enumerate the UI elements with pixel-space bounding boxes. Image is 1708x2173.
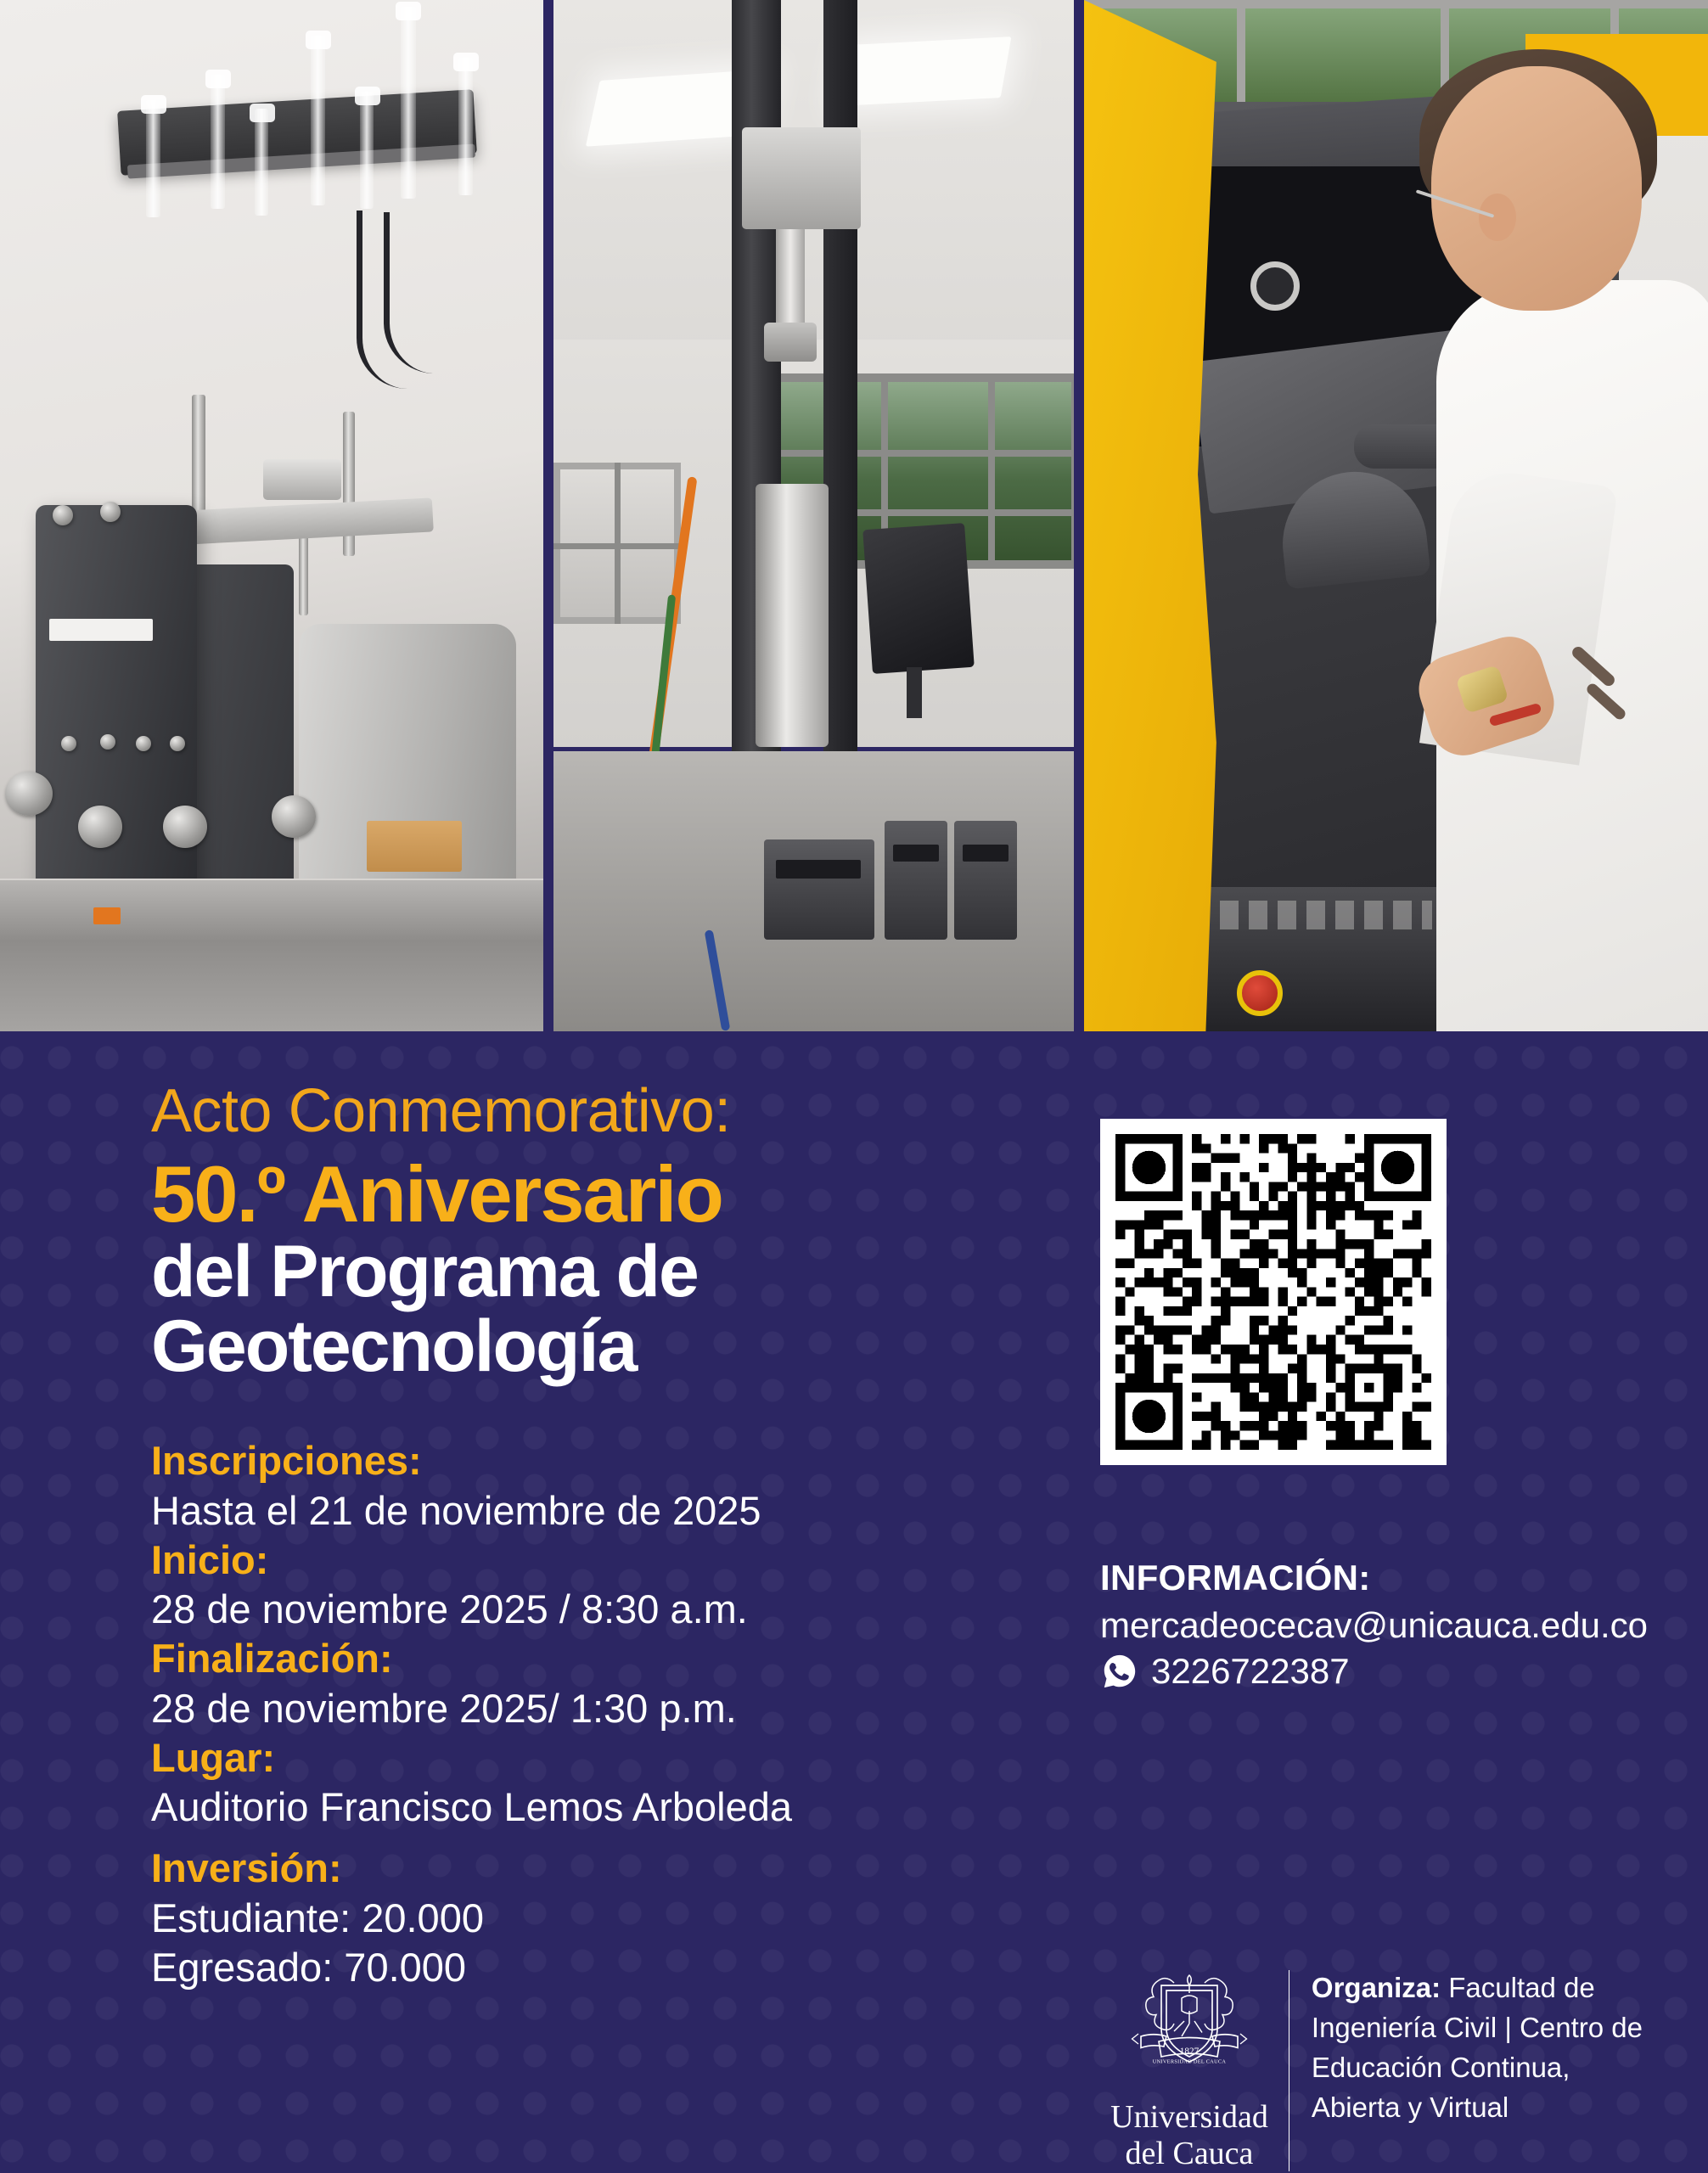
university-name: Universidad del Cauca (1110, 2099, 1268, 2171)
photo-four-point-bending-test-machine (0, 0, 543, 1031)
detail-item: Finalización: 28 de noviembre 2025/ 1:30… (151, 1634, 1009, 1733)
contact-phone-row[interactable]: 3226722387 (1100, 1651, 1627, 1692)
event-details-list: Inscripciones: Hasta el 21 de noviembre … (151, 1436, 1009, 1992)
detail-value: 28 de noviembre 2025 / 8:30 a.m. (151, 1585, 1009, 1634)
information-title: INFORMACIÓN: (1100, 1558, 1627, 1598)
detail-value: Hasta el 21 de noviembre de 2025 (151, 1486, 1009, 1536)
investment-graduate: Egresado: 70.000 (151, 1943, 1009, 1992)
investment-student: Estudiante: 20.000 (151, 1894, 1009, 1943)
contact-phone-number: 3226722387 (1151, 1651, 1350, 1692)
registration-qr-code[interactable] (1100, 1119, 1447, 1465)
footer-organizer-block: 1827 UNIVERSIDAD DEL CAUCA Universidad d… (1100, 1965, 1643, 2171)
headline-program-line2: Geotecnología (151, 1310, 1009, 1384)
footer-divider (1289, 1970, 1289, 2171)
investment-label: Inversión: (151, 1844, 1009, 1893)
qr-code-image (1115, 1134, 1431, 1450)
detail-item: Lugar: Auditorio Francisco Lemos Arboled… (151, 1733, 1009, 1833)
information-block: INFORMACIÓN: mercadeocecav@unicauca.edu.… (1100, 1558, 1627, 1692)
investment-block: Inversión: Estudiante: 20.000 Egresado: … (151, 1844, 1009, 1992)
panel-divider-2 (1074, 0, 1084, 1031)
detail-label: Lugar: (151, 1733, 1009, 1783)
detail-item: Inicio: 28 de noviembre 2025 / 8:30 a.m. (151, 1536, 1009, 1635)
university-name-line1: Universidad (1110, 2099, 1268, 2135)
detail-label: Finalización: (151, 1634, 1009, 1683)
university-name-line2: del Cauca (1126, 2136, 1254, 2171)
headline-program-line1: del Programa de (151, 1235, 1009, 1310)
content-area: Acto Conmemorativo: 50.º Aniversario del… (0, 1031, 1708, 2173)
organizer-label: Organiza: (1312, 1972, 1441, 2003)
whatsapp-icon (1100, 1652, 1139, 1691)
detail-value: 28 de noviembre 2025/ 1:30 p.m. (151, 1684, 1009, 1733)
contact-email[interactable]: mercadeocecav@unicauca.edu.co (1100, 1605, 1627, 1646)
headline-anniversary: 50.º Aniversario (151, 1154, 1009, 1235)
detail-label: Inscripciones: (151, 1436, 1009, 1485)
photo-strip (0, 0, 1708, 1031)
detail-item: Inscripciones: Hasta el 21 de noviembre … (151, 1436, 1009, 1536)
event-info-column: Acto Conmemorativo: 50.º Aniversario del… (151, 1081, 1009, 1992)
detail-label: Inicio: (151, 1536, 1009, 1585)
university-branding: 1827 UNIVERSIDAD DEL CAUCA Universidad d… (1100, 1965, 1278, 2171)
headline-kicker: Acto Conmemorativo: (151, 1081, 1009, 1142)
poster-root: Acto Conmemorativo: 50.º Aniversario del… (0, 0, 1708, 2173)
crest-year: 1827 (1180, 2047, 1200, 2057)
organizer-text: Organiza: Facultad de Ingeniería Civil |… (1312, 1965, 1643, 2127)
universidad-del-cauca-crest: 1827 UNIVERSIDAD DEL CAUCA (1126, 1965, 1253, 2092)
detail-value: Auditorio Francisco Lemos Arboleda (151, 1783, 1009, 1832)
photo-universal-testing-rig-laboratory (553, 0, 1074, 1031)
panel-divider-1 (543, 0, 553, 1031)
crest-ribbon-text: UNIVERSIDAD DEL CAUCA (1153, 2059, 1227, 2065)
photo-technician-at-double-wheel-tracker (1084, 0, 1708, 1031)
